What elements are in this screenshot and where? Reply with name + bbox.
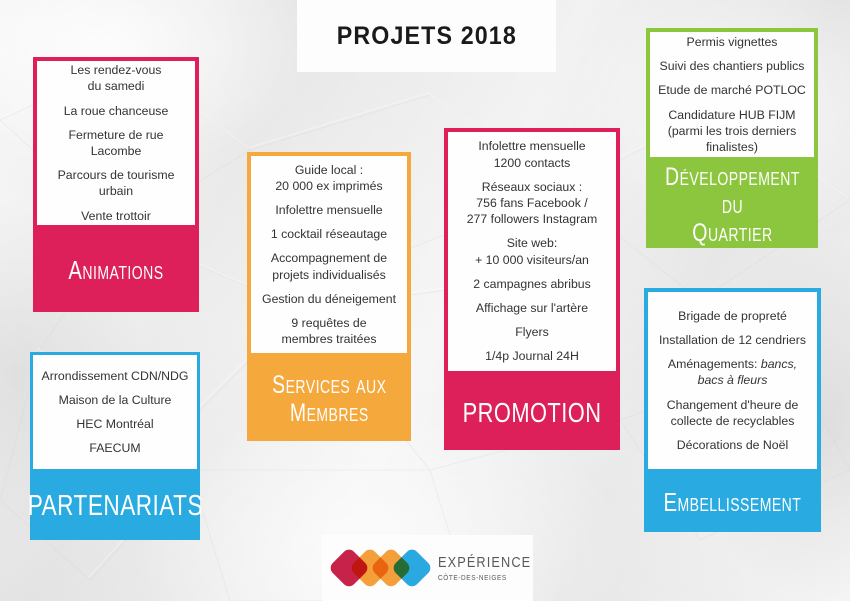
list-item: FAECUM bbox=[81, 436, 148, 460]
animations-item-list: Les rendez-vousdu samedi La roue chanceu… bbox=[33, 57, 199, 229]
list-item: Infolettre mensuelle bbox=[267, 198, 390, 222]
promotion-header: PROMOTION bbox=[444, 375, 620, 450]
promotion-item-list: Infolettre mensuelle1200 contacts Réseau… bbox=[444, 128, 620, 375]
block-promotion: Infolettre mensuelle1200 contacts Réseau… bbox=[444, 128, 620, 450]
page-title: PROJETS 2018 bbox=[336, 22, 516, 51]
list-item: Permis vignettes bbox=[679, 30, 786, 54]
list-item: Accompagnement deprojets individualisés bbox=[263, 246, 395, 286]
block-animations: Les rendez-vousdu samedi La roue chanceu… bbox=[33, 57, 199, 312]
list-item: Candidature HUB FIJM(parmi les trois der… bbox=[660, 103, 804, 160]
list-item: Etude de marché POTLOC bbox=[650, 78, 814, 102]
block-services-aux-membres: Guide local :20 000 ex imprimés Infolett… bbox=[247, 152, 411, 441]
list-item: 2 campagnes abribus bbox=[465, 272, 599, 296]
list-item: Parcours de tourisme urbain bbox=[37, 163, 195, 203]
list-item: Réseaux sociaux :756 fans Facebook /277 … bbox=[459, 175, 606, 232]
block-embellissement: Brigade de propreté Installation de 12 c… bbox=[644, 288, 821, 532]
list-item: Vente trottoir bbox=[73, 204, 159, 228]
list-item: Aménagements: bancs,bacs à fleurs bbox=[660, 352, 805, 392]
embellissement-header: Embellissement bbox=[644, 473, 821, 532]
embellissement-item-list: Brigade de propreté Installation de 12 c… bbox=[644, 288, 821, 473]
list-item: Arrondissement CDN/NDG bbox=[34, 364, 197, 388]
list-item: 1 cocktail réseautage bbox=[263, 222, 395, 246]
list-item: Maison de la Culture bbox=[51, 388, 180, 412]
logo-subtitle: CÔTE-DES-NEIGES bbox=[438, 574, 531, 582]
block-developpement-du-quartier: Permis vignettes Suivi des chantiers pub… bbox=[646, 28, 818, 248]
list-item: Flyers bbox=[507, 320, 556, 344]
list-item: HEC Montréal bbox=[68, 412, 161, 436]
list-item: Gestion du déneigement bbox=[254, 287, 404, 311]
list-item: Changement d'heure decollecte de recycla… bbox=[659, 393, 807, 433]
list-item: Brigade de propreté bbox=[670, 304, 795, 328]
list-item: 1/4p Journal 24H bbox=[477, 344, 587, 368]
list-item: Affichage sur l'artère bbox=[468, 296, 596, 320]
partenariats-header: PARTENARIATS bbox=[30, 472, 200, 540]
list-item: Suivi des chantiers publics bbox=[652, 54, 813, 78]
block-partenariats: Arrondissement CDN/NDG Maison de la Cult… bbox=[30, 352, 200, 540]
animations-header: Animations bbox=[33, 229, 199, 312]
list-item: Décorations de Noël bbox=[669, 433, 796, 457]
list-item: La roue chanceuse bbox=[56, 99, 177, 123]
list-item: Fermeture de rue Lacombe bbox=[37, 123, 195, 163]
list-item: Les rendez-vousdu samedi bbox=[63, 58, 170, 98]
list-item: Guide local :20 000 ex imprimés bbox=[267, 158, 390, 198]
partenariats-item-list: Arrondissement CDN/NDG Maison de la Cult… bbox=[30, 352, 200, 472]
developpement-header: Développement duQuartier bbox=[646, 161, 818, 248]
title-banner: PROJETS 2018 bbox=[297, 0, 556, 72]
infographic-canvas: PROJETS 2018 Les rendez-vousdu samedi La… bbox=[0, 0, 850, 601]
logo-banner: EXPÉRIENCE CÔTE-DES-NEIGES bbox=[322, 535, 533, 601]
list-item: Site web:+ 10 000 visiteurs/an bbox=[467, 231, 597, 271]
services-header: Services auxMembres bbox=[247, 357, 411, 441]
list-item: Infolettre mensuelle1200 contacts bbox=[470, 134, 593, 174]
list-item: 9 requêtes demembres traitées bbox=[274, 311, 385, 351]
developpement-item-list: Permis vignettes Suivi des chantiers pub… bbox=[646, 28, 818, 161]
logo-name: EXPÉRIENCE bbox=[438, 555, 531, 570]
logo-wordmark: EXPÉRIENCE CÔTE-DES-NEIGES bbox=[438, 555, 548, 582]
list-item: Installation de 12 cendriers bbox=[651, 328, 814, 352]
services-item-list: Guide local :20 000 ex imprimés Infolett… bbox=[247, 152, 411, 357]
experience-diamonds-icon bbox=[334, 546, 428, 590]
